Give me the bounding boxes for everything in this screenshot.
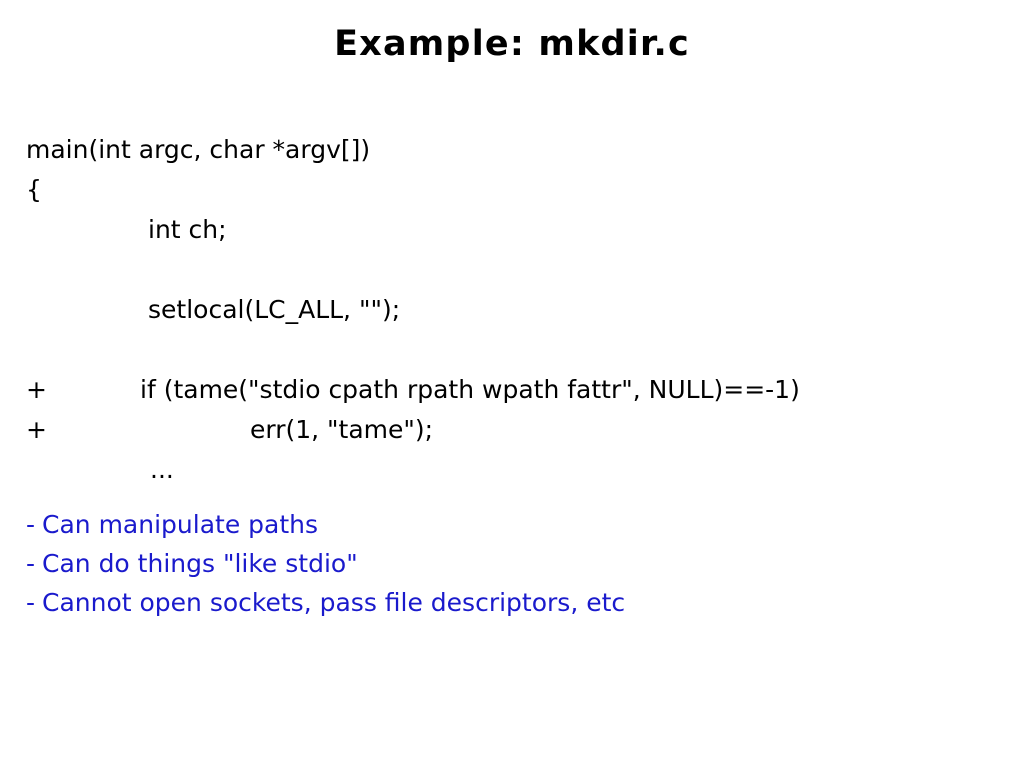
diff-add-marker: + (26, 410, 140, 450)
list-item: -Can manipulate paths (26, 505, 996, 544)
bullet-dash-icon: - (26, 505, 42, 544)
bullet-dash-icon: - (26, 544, 42, 583)
list-item-label: Cannot open sockets, pass file descripto… (42, 588, 625, 617)
code-line-text: int ch; (148, 215, 227, 244)
notes-list: -Can manipulate paths -Can do things "li… (26, 505, 996, 622)
code-line-text: main(int argc, char *argv[]) (26, 135, 370, 164)
code-line-blank (26, 250, 996, 290)
list-item: -Can do things "like stdio" (26, 544, 996, 583)
code-line-text: { (26, 175, 42, 204)
code-line-added: +err(1, "tame"); (26, 410, 996, 450)
list-item-label: Can manipulate paths (42, 510, 318, 539)
code-line: main(int argc, char *argv[]) (26, 130, 996, 170)
list-item-label: Can do things "like stdio" (42, 549, 358, 578)
code-line-blank (26, 330, 996, 370)
bullet-dash-icon: - (26, 583, 42, 622)
page-title: Example: mkdir.c (0, 22, 1024, 66)
code-line-text: setlocal(LC_ALL, ""); (148, 295, 400, 324)
code-line-ellipsis: ... (26, 450, 996, 490)
diff-add-marker: + (26, 370, 140, 410)
presentation-slide: Example: mkdir.c main(int argc, char *ar… (0, 0, 1024, 768)
code-line-text: err(1, "tame"); (140, 415, 433, 444)
list-item: -Cannot open sockets, pass file descript… (26, 583, 996, 622)
code-line-text: if (tame("stdio cpath rpath wpath fattr"… (140, 375, 800, 404)
code-line: setlocal(LC_ALL, ""); (26, 290, 996, 330)
code-listing: main(int argc, char *argv[]) { int ch; s… (26, 130, 996, 490)
code-line: { (26, 170, 996, 210)
code-line-added: +if (tame("stdio cpath rpath wpath fattr… (26, 370, 996, 410)
code-line: int ch; (26, 210, 996, 250)
code-line-text: ... (150, 455, 174, 484)
